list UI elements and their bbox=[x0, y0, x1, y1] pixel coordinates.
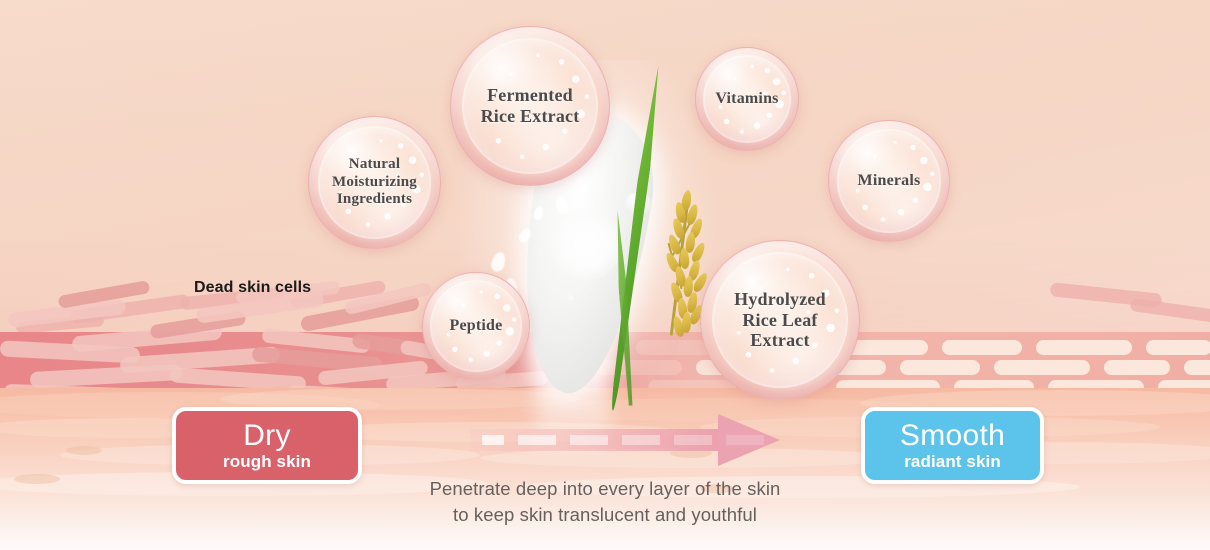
arrow-dash bbox=[482, 435, 504, 445]
status-badge-smooth-radiant-skin[interactable]: Smooth radiant skin bbox=[861, 407, 1044, 484]
ingredient-bubble-vitamins[interactable]: Vitamins bbox=[695, 47, 799, 151]
penetration-arrow bbox=[470, 414, 790, 466]
bubble-label-line: Rice Extract bbox=[481, 106, 580, 127]
arrow-dash bbox=[674, 435, 712, 445]
caption-line-1: Penetrate deep into every layer of the s… bbox=[0, 476, 1210, 502]
badge-subtitle: radiant skin bbox=[904, 453, 1001, 470]
arrow-dash bbox=[570, 435, 608, 445]
healthy-skin-cell bbox=[942, 340, 1022, 355]
bubble-label-line: Peptide bbox=[450, 317, 503, 336]
healthy-skin-cell bbox=[900, 360, 980, 375]
arrow-dash bbox=[726, 435, 764, 445]
infographic-canvas: Dead skin cells NaturalMoisturizingIngre… bbox=[0, 0, 1210, 550]
caption-line-2: to keep skin translucent and youthful bbox=[0, 502, 1210, 528]
status-badge-dry-rough-skin[interactable]: Dry rough skin bbox=[172, 407, 362, 484]
healthy-skin-cell bbox=[994, 360, 1090, 375]
ingredient-bubble-fermented-rice-extract[interactable]: FermentedRice Extract bbox=[450, 26, 610, 186]
bubble-label-line: Vitamins bbox=[715, 90, 778, 109]
badge-title: Dry bbox=[243, 421, 291, 452]
bubble-label-line: Hydrolyzed bbox=[734, 289, 826, 310]
arrow-dash bbox=[622, 435, 660, 445]
ingredient-bubble-peptide[interactable]: Peptide bbox=[422, 272, 530, 380]
healthy-skin-cell bbox=[1104, 360, 1170, 375]
bubble-label-line: Ingredients bbox=[332, 191, 417, 208]
bubble-label: HydrolyzedRice LeafExtract bbox=[734, 289, 826, 352]
caption-block: Penetrate deep into every layer of the s… bbox=[0, 476, 1210, 529]
bubble-label-line: Extract bbox=[734, 330, 826, 351]
ingredient-bubble-natural-moisturizing-ingredients[interactable]: NaturalMoisturizingIngredients bbox=[308, 116, 441, 249]
dermis-speck bbox=[66, 446, 102, 455]
bubble-label-line: Moisturizing bbox=[332, 174, 417, 191]
dead-skin-cells-label: Dead skin cells bbox=[194, 279, 311, 297]
healthy-skin-cell bbox=[1184, 360, 1210, 375]
bubble-label-line: Fermented bbox=[481, 85, 580, 106]
bubble-label-line: Natural bbox=[332, 156, 417, 173]
bubble-label: FermentedRice Extract bbox=[481, 85, 580, 127]
healthy-skin-cell bbox=[1036, 340, 1132, 355]
bubble-label-line: Rice Leaf bbox=[734, 310, 826, 331]
bubble-label: Minerals bbox=[858, 172, 921, 191]
bubble-label-line: Minerals bbox=[858, 172, 921, 191]
ingredient-bubble-minerals[interactable]: Minerals bbox=[828, 120, 950, 242]
healthy-skin-cell bbox=[1146, 340, 1210, 355]
ingredient-bubble-hydrolyzed-rice-leaf-extract[interactable]: HydrolyzedRice LeafExtract bbox=[700, 240, 860, 400]
badge-subtitle: rough skin bbox=[223, 453, 311, 470]
rice-leaf-blade bbox=[607, 65, 663, 411]
bubble-label: Peptide bbox=[450, 317, 503, 336]
badge-title: Smooth bbox=[900, 421, 1005, 452]
arrow-dash bbox=[518, 435, 556, 445]
bubble-label: NaturalMoisturizingIngredients bbox=[332, 156, 417, 208]
bubble-label: Vitamins bbox=[715, 90, 778, 109]
